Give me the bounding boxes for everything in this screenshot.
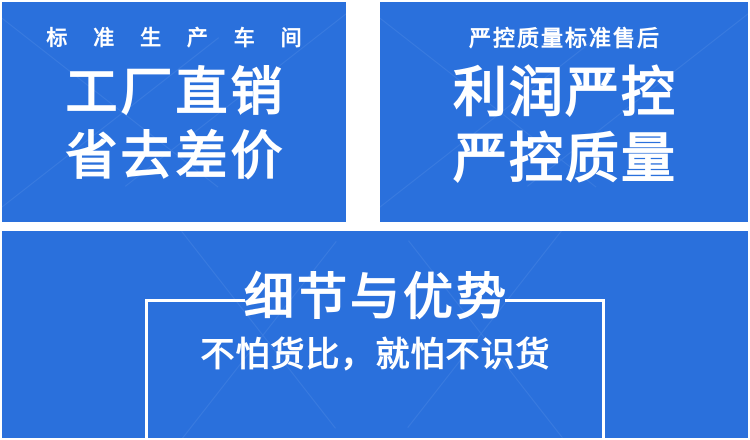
panel-right-headline-line2: 严控质量 (451, 132, 677, 186)
panel-quality-control: 严控质量标准售后 利润严控 严控质量 (380, 2, 748, 222)
bottom-panel-title: 细节与优势 (2, 272, 748, 322)
panel-left-headline-line1: 工厂直销 (62, 67, 285, 119)
panel-left-eyebrow: 标 准 生 产 车 间 (36, 28, 311, 49)
bottom-panel-subtitle: 不怕货比，就怕不识货 (2, 338, 748, 372)
panel-right-headline-line1: 利润严控 (451, 66, 677, 120)
panel-factory-direct: 标 准 生 产 车 间 工厂直销 省去差价 (2, 2, 346, 222)
panel-left-headline-line2: 省去差价 (62, 131, 285, 183)
panel-details-advantages: 细节与优势 不怕货比，就怕不识货 (2, 231, 748, 438)
panel-right-eyebrow: 严控质量标准售后 (467, 28, 661, 50)
promo-banner: 标 准 生 产 车 间 工厂直销 省去差价 严控质量标准售后 利润严控 严控质量 (0, 0, 750, 440)
